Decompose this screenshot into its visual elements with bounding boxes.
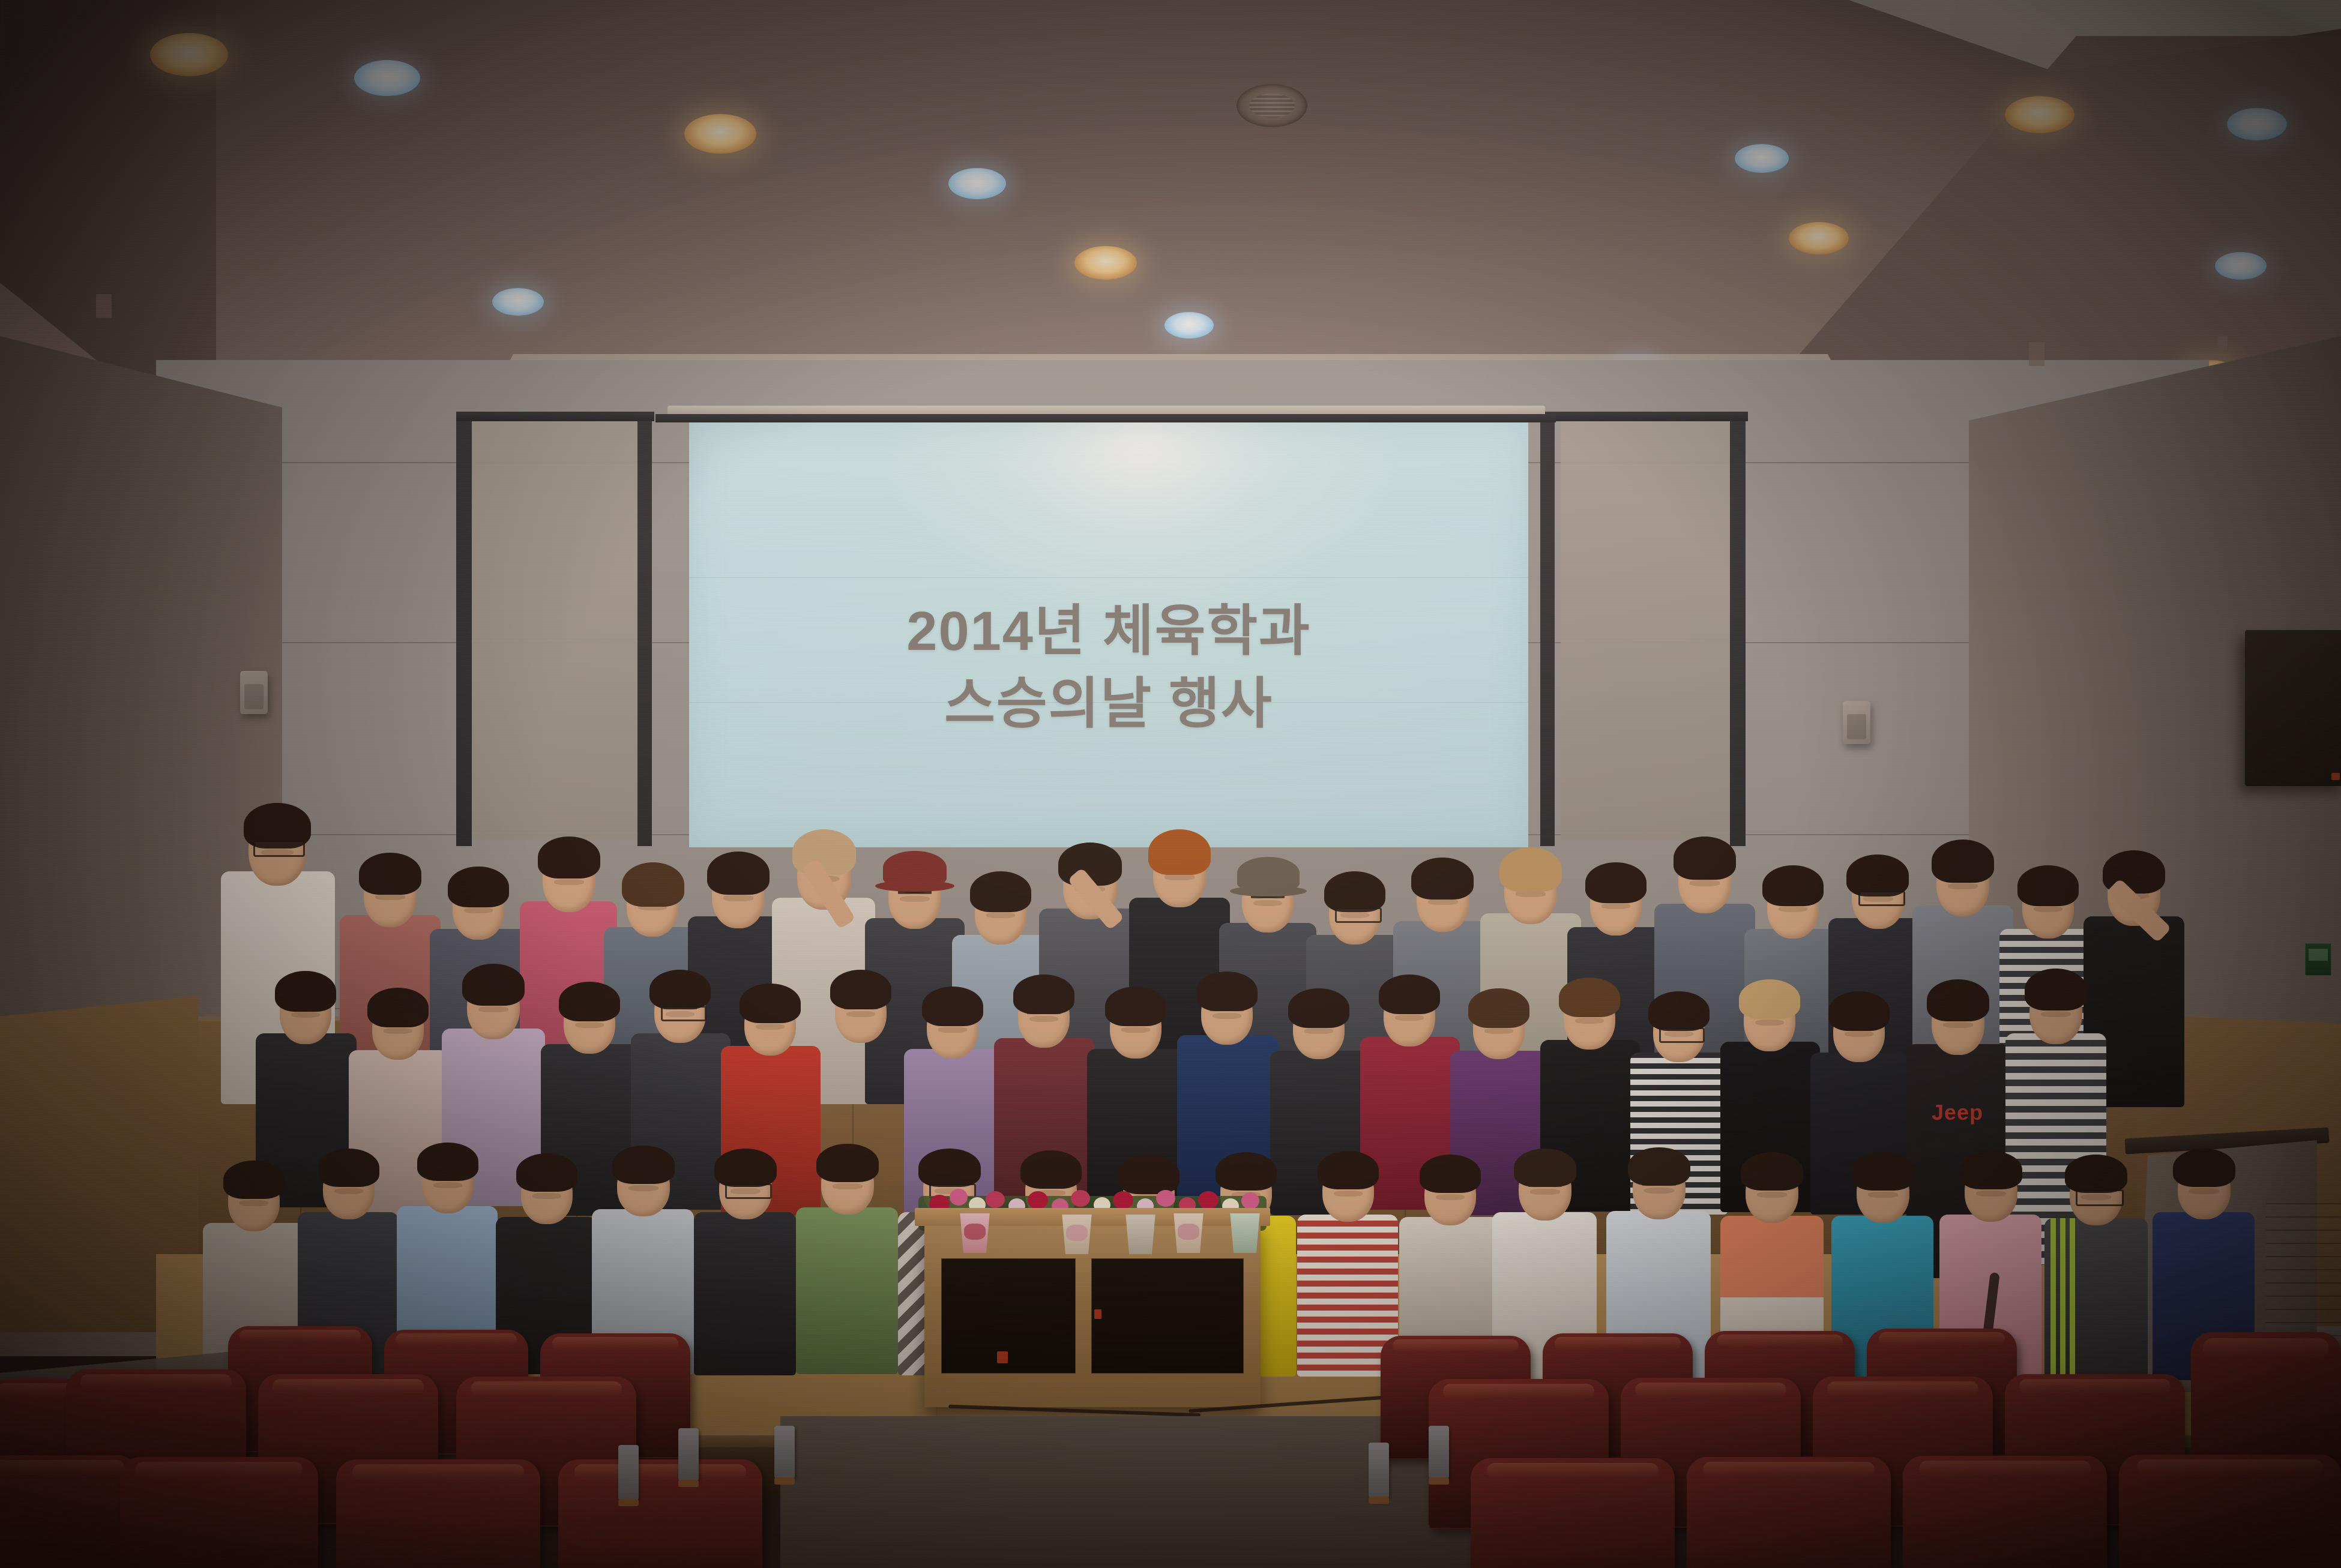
exit-sign-icon: [2305, 943, 2331, 976]
downlight-cool: [354, 60, 420, 96]
seat[interactable]: [1687, 1457, 1891, 1568]
jeep-logo-text: Jeep: [1915, 1099, 2000, 1126]
seat[interactable]: [2119, 1455, 2341, 1568]
downlight-cool: [1164, 312, 1214, 338]
seat[interactable]: [1471, 1458, 1675, 1568]
flower-pot: [1228, 1213, 1262, 1253]
screen-top-bar: [655, 414, 1556, 422]
flower-pot: [1060, 1215, 1094, 1254]
downlight-warm: [1074, 246, 1137, 280]
seat-armrest: [1429, 1426, 1449, 1479]
seat-armrest: [618, 1445, 639, 1500]
screen-frame-strip-inner-right: [1540, 414, 1555, 846]
ceiling-fitting: [2218, 336, 2228, 349]
wall-speaker-left-icon: [240, 671, 268, 714]
downlight-cool: [2227, 108, 2287, 140]
glasses-icon: [725, 1183, 772, 1199]
wall-speaker-right-icon: [1843, 701, 1870, 744]
glasses-icon: [661, 1006, 707, 1021]
glasses-icon: [1858, 891, 1905, 906]
auditorium-seating: [0, 1308, 2341, 1568]
downlight-cool: [948, 168, 1006, 199]
downlight-cool: [1735, 144, 1789, 173]
air-vent-icon: [1237, 84, 1307, 127]
cap-icon: [883, 851, 947, 885]
seat[interactable]: [558, 1459, 762, 1568]
downlight-warm: [2005, 96, 2074, 133]
auditorium-photo-scene: 2014년 체육학과 스승의날 행사: [0, 0, 2341, 1568]
seat-armrest: [1369, 1443, 1389, 1498]
slide-line-1: 2014년 체육학과: [906, 601, 1310, 662]
glasses-icon: [2076, 1189, 2124, 1206]
seat[interactable]: [1903, 1456, 2107, 1568]
screen-frame-strip-inner-left: [637, 414, 652, 846]
flower-pot: [1124, 1215, 1157, 1254]
flower-pot: [1172, 1213, 1205, 1253]
seat[interactable]: [120, 1457, 318, 1568]
downlight-warm: [684, 114, 756, 154]
screen-frame-strip-top-right: [1540, 412, 1748, 421]
wall-fitting: [96, 294, 112, 318]
flower-pot: [958, 1213, 992, 1253]
wall-fitting: [2029, 342, 2044, 366]
slide-text-block: 2014년 체육학과 스승의날 행사: [689, 595, 1528, 741]
downlight-warm: [150, 33, 228, 76]
screen-frame-strip-right: [1730, 414, 1746, 846]
screen-frame-strip-left: [456, 414, 472, 846]
downlight-cool: [492, 288, 544, 316]
monitor-power-led-icon: [2331, 773, 2340, 780]
slide-line-2: 스승의날 행사: [689, 668, 1528, 740]
wall-panel-left-of-screen: [462, 420, 642, 840]
projection-screen: 2014년 체육학과 스승의날 행사: [689, 420, 1528, 847]
screen-crease: [689, 577, 1528, 578]
glasses-icon: [1659, 1027, 1705, 1043]
wall-panel-right-of-screen: [1561, 420, 1741, 840]
seat[interactable]: [336, 1459, 540, 1568]
downlight-warm: [1789, 222, 1849, 254]
cap-icon: [1237, 857, 1300, 889]
glasses-icon: [1335, 907, 1382, 923]
downlight-cool: [2215, 252, 2267, 280]
screen-frame-strip-top-left: [456, 412, 654, 421]
wall-monitor-icon[interactable]: [2245, 630, 2341, 786]
seat-armrest: [678, 1428, 699, 1481]
seat-armrest: [774, 1426, 795, 1479]
ceiling-fitting: [1681, 240, 1687, 246]
seat[interactable]: [0, 1455, 138, 1568]
